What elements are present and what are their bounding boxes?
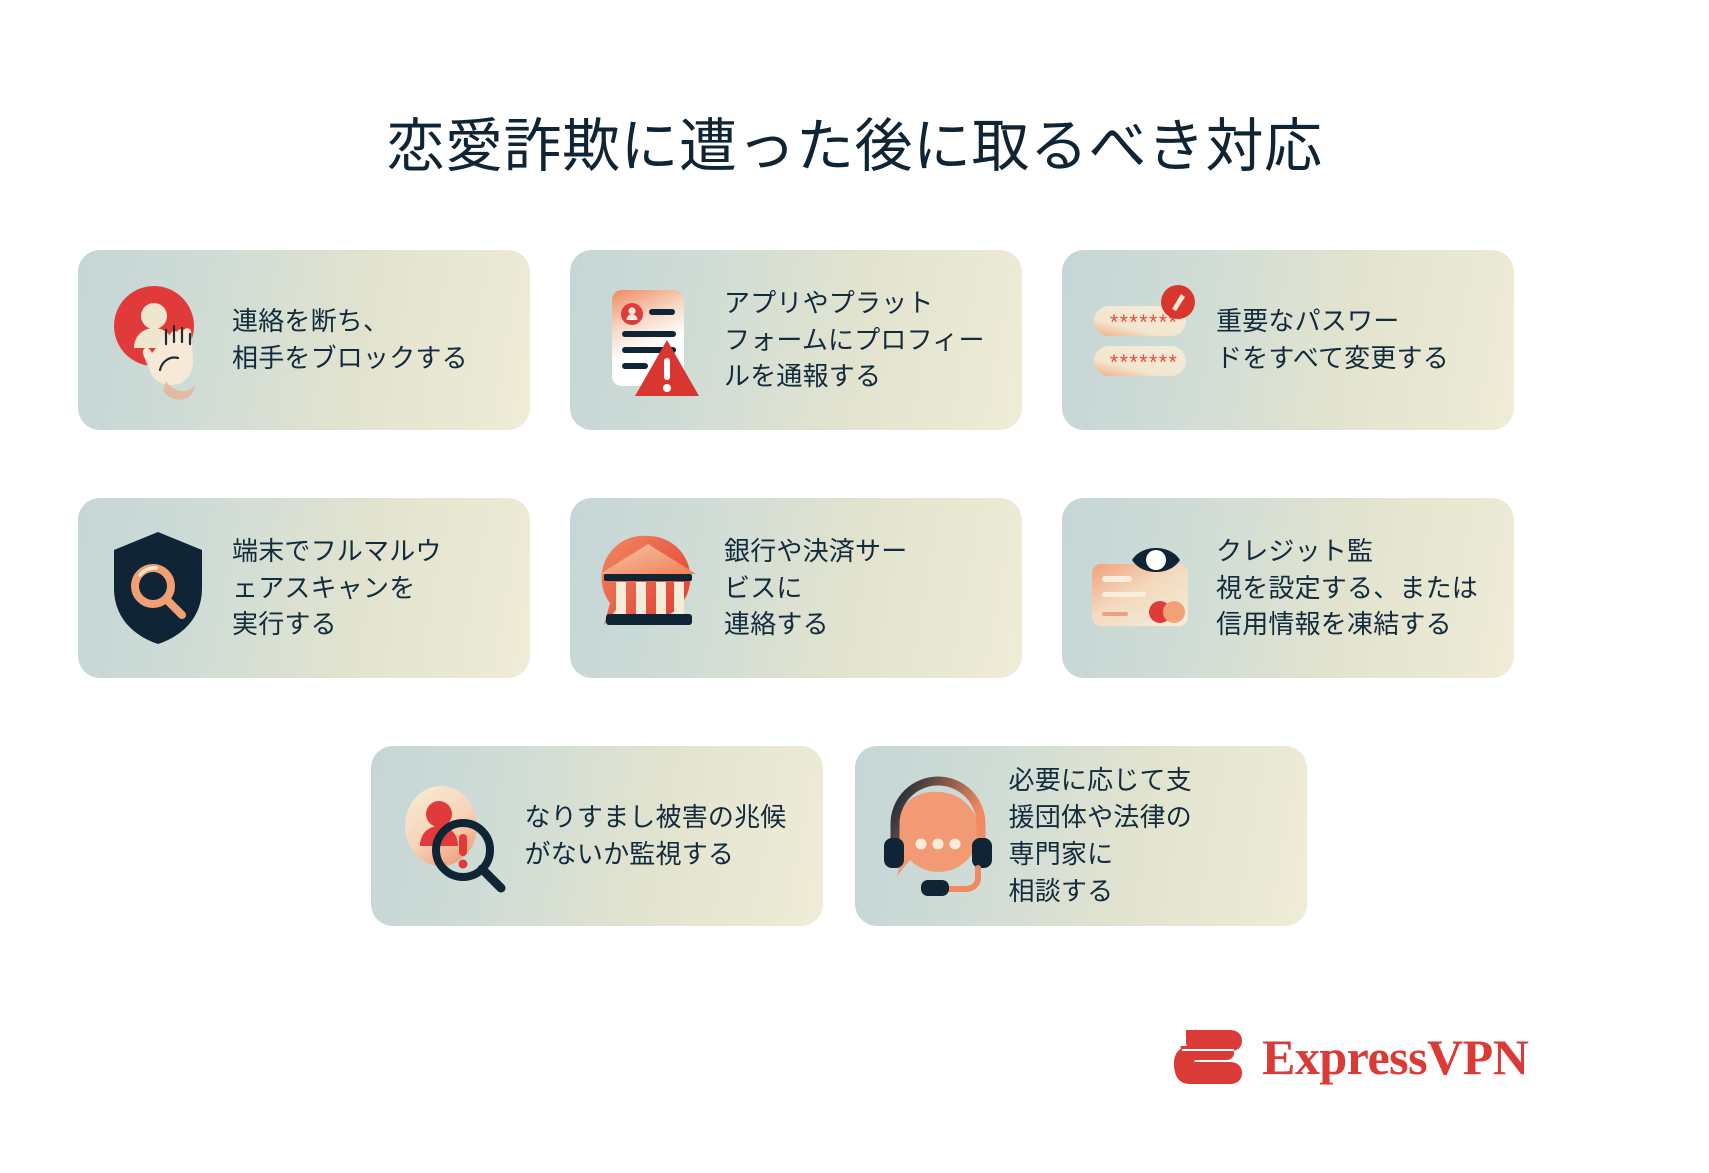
page-title: 恋愛詐欺に遭った後に取るべき対応 — [0, 111, 1709, 184]
shield-magnifier-icon — [104, 526, 222, 650]
card-monitor-identity-theft[interactable]: なりすまし被害の兆候 がないか監視する — [371, 746, 823, 926]
person-block-hand-icon — [104, 278, 222, 402]
person-magnifier-alert-icon — [397, 774, 515, 898]
credit-card-eye-icon — [1088, 526, 1206, 650]
card-contact-bank[interactable]: 銀行や決済サー ビスに 連絡する — [570, 498, 1022, 678]
card-text: 端末でフルマルウ ェアスキャンを 実行する — [232, 533, 442, 644]
card-text: 重要なパスワー ドをすべて変更する — [1216, 303, 1449, 377]
document-report-warning-icon — [596, 278, 714, 402]
svg-text:*******: ******* — [1110, 351, 1178, 374]
card-credit-monitoring[interactable]: クレジット監 視を設定する、または 信用情報を凍結する — [1062, 498, 1514, 678]
card-text: 連絡を断ち、 相手をブロックする — [232, 303, 468, 377]
brand-logo[interactable]: ExpressVPN — [1172, 1026, 1528, 1088]
headset-support-icon — [881, 774, 999, 898]
card-text: なりすまし被害の兆候 がないか監視する — [525, 799, 787, 873]
password-fields-edit-icon: ******* ******* — [1088, 278, 1206, 402]
card-malware-scan[interactable]: 端末でフルマルウ ェアスキャンを 実行する — [78, 498, 530, 678]
card-change-passwords[interactable]: ******* ******* 重要なパスワー ドをすべて変更する — [1062, 250, 1514, 430]
card-text: アプリやプラット フォームにプロフィー ルを通報する — [724, 285, 985, 396]
card-text: クレジット監 視を設定する、または 信用情報を凍結する — [1216, 533, 1478, 644]
card-cut-contact-block[interactable]: 連絡を断ち、 相手をブロックする — [78, 250, 530, 430]
steps-grid: 連絡を断ち、 相手をブロックする — [78, 250, 1631, 994]
brand-name: ExpressVPN — [1262, 1032, 1528, 1082]
card-text: 銀行や決済サー ビスに 連絡する — [724, 533, 907, 644]
expressvpn-e-logo-icon — [1172, 1026, 1246, 1088]
card-row-3: なりすまし被害の兆候 がないか監視する — [78, 746, 1631, 926]
card-report-profile[interactable]: アプリやプラット フォームにプロフィー ルを通報する — [570, 250, 1022, 430]
card-row-1: 連絡を断ち、 相手をブロックする — [78, 250, 1631, 430]
card-row-2: 端末でフルマルウ ェアスキャンを 実行する — [78, 498, 1631, 678]
bank-speech-bubble-icon — [596, 526, 714, 650]
card-text: 必要に応じて支 援団体や法律の 専門家に 相談する — [1009, 762, 1192, 910]
card-seek-support[interactable]: 必要に応じて支 援団体や法律の 専門家に 相談する — [855, 746, 1307, 926]
